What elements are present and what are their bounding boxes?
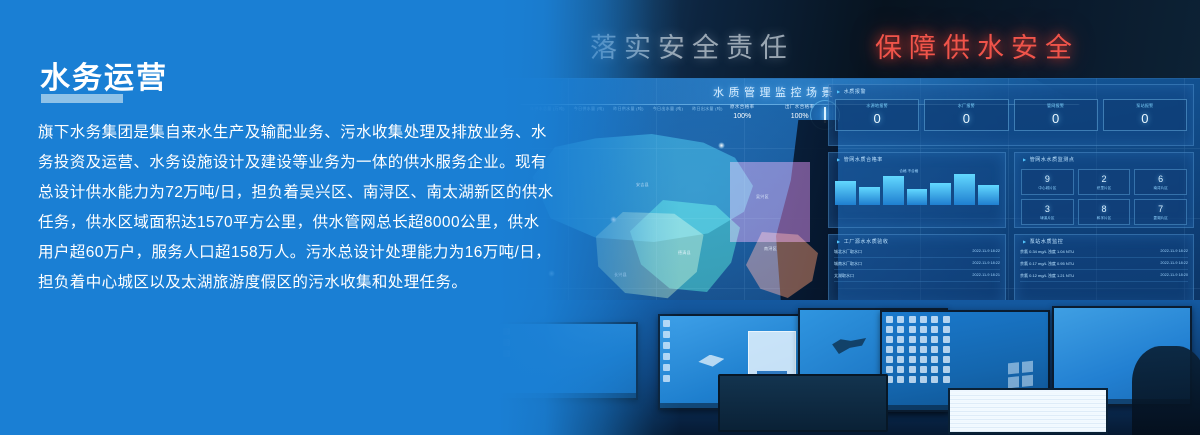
led-banner-strip: 落实安全责任 保障供水安全 — [480, 0, 1200, 88]
panel-monitoring-points[interactable]: 管网水水质监测点 9 中心城片区 2 织里片区 6 南浔片区 — [1014, 152, 1194, 228]
desktop-icon[interactable] — [931, 336, 938, 343]
desktop-icon[interactable] — [897, 356, 904, 363]
alarm-card[interactable]: 水厂报警 0 — [924, 99, 1008, 131]
alarm-card-label: 泵站报警 — [1104, 103, 1186, 109]
panel-heading: 管网水质合格率 — [837, 156, 883, 163]
control-room-photo: 落实安全责任 保障供水安全 水质管理监控场景 年供水总量 (万吨) 今日供水量 … — [480, 0, 1200, 435]
panel-heading: 管网水水质监测点 — [1023, 156, 1075, 163]
panel-heading: 水质报警 — [837, 88, 866, 95]
alarm-card-row: 水源地报警 0 水厂报警 0 管网报警 0 泵站报警 — [835, 99, 1187, 131]
row-site: 太湖取水口 — [834, 273, 854, 279]
desktop-icon[interactable] — [943, 346, 950, 353]
monitor-point-cell[interactable]: 9 中心城片区 — [1021, 169, 1074, 195]
desktop-icon[interactable] — [920, 326, 927, 333]
alarm-card-value: 0 — [836, 111, 918, 126]
paragraph-line: 务投资及运营、水务设施设计及建设等业务为一体的供水服务企业。现有 — [38, 148, 550, 178]
kpi-label: 今日供水量 (吨) — [574, 106, 604, 112]
alarm-card-value: 0 — [1104, 111, 1186, 126]
cell-label: 埭溪片区 — [1022, 216, 1073, 221]
desk-spreadsheet-screen — [948, 388, 1108, 434]
led-slogan-left: 落实安全责任 — [590, 26, 794, 65]
data-row[interactable]: 太湖取水口 2022-11-9 18:21 — [834, 273, 1000, 282]
led-slogan-right: 保障供水安全 — [875, 26, 1079, 65]
desktop-icon — [663, 353, 670, 360]
desktop-icon[interactable] — [920, 316, 927, 323]
underwater-wallpaper-diver — [832, 338, 866, 354]
row-metrics: 余氯 0.17 mg/L 浊度 0.95 NTU — [1020, 261, 1074, 267]
row-metrics: 余氯 0.12 mg/L 浊度 1.21 NTU — [1020, 273, 1074, 279]
desktop-icon[interactable] — [897, 326, 904, 333]
map-region-label: 吴兴区 — [756, 194, 769, 200]
data-row[interactable]: 余氯 0.12 mg/L 浊度 1.21 NTU 2022-11-9 18:20 — [1020, 273, 1188, 282]
desktop-icon[interactable] — [943, 366, 950, 373]
desktop-icon — [663, 331, 670, 338]
row-time: 2022-11-9 18:22 — [972, 249, 1000, 253]
desktop-icon[interactable] — [920, 356, 927, 363]
region-map: 安吉县 德清县 长兴县 吴兴区 南浔区 — [518, 120, 818, 320]
description-paragraph: 旗下水务集团是集自来水生产及输配业务、污水收集处理及排放业务、水 务投资及运营、… — [38, 118, 550, 298]
row-time: 2022-11-9 18:22 — [1160, 261, 1188, 265]
map-region-wuxing — [730, 162, 810, 242]
panel-pump-station-quality[interactable]: 泵站水质监控 余氯 0.34 mg/L 浊度 1.04 NTU 2022-11-… — [1014, 234, 1194, 306]
row-site: 城北水厂取水口 — [834, 249, 862, 255]
alarm-card-label: 管网报警 — [1015, 103, 1097, 109]
person-silhouette — [1132, 346, 1200, 435]
chart-bar — [883, 176, 904, 205]
alarm-card[interactable]: 泵站报警 0 — [1103, 99, 1187, 131]
source-water-row-list: 城北水厂取水口 2022-11-9 18:22 城南水厂取水口 2022-11-… — [834, 249, 1000, 285]
desktop-icon — [663, 342, 670, 349]
alarm-card-label: 水厂报警 — [925, 103, 1007, 109]
data-row[interactable]: 城南水厂取水口 2022-11-9 18:22 — [834, 261, 1000, 270]
cell-value: 6 — [1135, 174, 1186, 184]
desktop-icon — [663, 375, 670, 382]
desktop-icon[interactable] — [897, 366, 904, 373]
text-content-block: 水务运营 旗下水务集团是集自来水生产及输配业务、污水收集处理及排放业务、水 务投… — [0, 0, 560, 435]
paragraph-line: 旗下水务集团是集自来水生产及输配业务、污水收集处理及排放业务、水 — [38, 118, 550, 148]
percent-label: 原水合格率 — [730, 104, 755, 110]
alarm-card[interactable]: 管网报警 0 — [1014, 99, 1098, 131]
cell-label: 和孚片区 — [1079, 216, 1130, 221]
desktop-icon[interactable] — [909, 346, 916, 353]
chart-bar — [907, 189, 928, 205]
desktop-icon[interactable] — [931, 316, 938, 323]
row-time: 2022-11-9 18:21 — [972, 273, 1000, 277]
desktop-icon[interactable] — [920, 376, 927, 383]
desktop-icon[interactable] — [897, 346, 904, 353]
desktop-icon-column — [663, 320, 670, 382]
cell-label: 南浔片区 — [1135, 186, 1186, 191]
desktop-icon[interactable] — [931, 376, 938, 383]
paragraph-line: 任务，供水区域面积达1570平方公里，供水管网总长超8000公里，供水 — [38, 208, 550, 238]
desktop-icon[interactable] — [886, 336, 893, 343]
title-underline-rule — [41, 94, 123, 103]
desktop-icon[interactable] — [920, 336, 927, 343]
chart-bar — [978, 185, 999, 205]
desktop-icon[interactable] — [886, 366, 893, 373]
chart-bar — [859, 187, 880, 205]
desktop-icon — [663, 364, 670, 371]
desktop-icon[interactable] — [897, 336, 904, 343]
paragraph-line: 用户超60万户，服务人口超158万人。污水总设计处理能力为16万吨/日， — [38, 238, 550, 268]
desktop-icon[interactable] — [886, 326, 893, 333]
data-row[interactable]: 余氯 0.34 mg/L 浊度 1.04 NTU 2022-11-9 18:22 — [1020, 249, 1188, 258]
monitor-point-cell[interactable]: 8 和孚片区 — [1078, 199, 1131, 225]
desktop-icon[interactable] — [943, 376, 950, 383]
desktop-icon[interactable] — [909, 336, 916, 343]
spreadsheet-rows — [950, 392, 1106, 432]
desktop-icon[interactable] — [909, 366, 916, 373]
kpi-label: 昨日出水量 (吨) — [692, 106, 722, 112]
row-time: 2022-11-9 18:22 — [1160, 249, 1188, 253]
data-row[interactable]: 余氯 0.17 mg/L 浊度 0.95 NTU 2022-11-9 18:22 — [1020, 261, 1188, 270]
alarm-card[interactable]: 水源地报警 0 — [835, 99, 919, 131]
alarm-card-value: 0 — [925, 111, 1007, 126]
desktop-icon[interactable] — [931, 356, 938, 363]
map-region-label: 德清县 — [678, 250, 691, 256]
alarm-card-value: 0 — [1015, 111, 1097, 126]
alarm-card-label: 水源地报警 — [836, 103, 918, 109]
cell-label: 菱湖片区 — [1135, 216, 1186, 221]
monitor-point-cell[interactable]: 2 织里片区 — [1078, 169, 1131, 195]
percent-stat: 原水合格率 100% — [730, 104, 755, 120]
cell-label: 中心城片区 — [1022, 186, 1073, 191]
desktop-icon[interactable] — [943, 316, 950, 323]
desktop-icon[interactable] — [909, 316, 916, 323]
row-time: 2022-11-9 18:22 — [972, 261, 1000, 265]
pump-station-row-list: 余氯 0.34 mg/L 浊度 1.04 NTU 2022-11-9 18:22… — [1020, 249, 1188, 285]
chart-bar — [835, 181, 856, 205]
desktop-icon[interactable] — [931, 366, 938, 373]
desktop-icon[interactable] — [909, 356, 916, 363]
map-region-label: 南浔区 — [764, 246, 777, 252]
panel-heading: 工厂源水水质验收 — [837, 238, 889, 245]
chart-bar — [930, 183, 951, 205]
desktop-icon[interactable] — [886, 316, 893, 323]
desktop-icon[interactable] — [943, 356, 950, 363]
desktop-icon[interactable] — [931, 326, 938, 333]
chart-bar — [954, 174, 975, 205]
kpi-label: 今日出水量 (吨) — [653, 106, 683, 112]
cell-value: 8 — [1079, 204, 1130, 214]
panel-heading: 泵站水质监控 — [1023, 238, 1063, 245]
row-site: 城南水厂取水口 — [834, 261, 862, 267]
pass-rate-bar-chart — [835, 171, 999, 205]
map-marker-dot — [718, 142, 725, 149]
cell-value: 7 — [1135, 204, 1186, 214]
cell-value: 2 — [1079, 174, 1130, 184]
desktop-icon[interactable] — [909, 376, 916, 383]
app-logo-icon — [698, 355, 724, 367]
monitor-point-cell[interactable]: 3 埭溪片区 — [1021, 199, 1074, 225]
desktop-icon[interactable] — [909, 326, 916, 333]
row-time: 2022-11-9 18:20 — [1160, 273, 1188, 277]
desktop-icon[interactable] — [920, 346, 927, 353]
panel-water-quality-alarms[interactable]: 水质报警 水源地报警 0 水厂报警 0 管网报警 0 — [828, 84, 1194, 146]
desktop-icon — [663, 320, 670, 327]
map-region-label: 长兴县 — [614, 272, 627, 278]
desktop-icon[interactable] — [897, 376, 904, 383]
water-operations-banner: 落实安全责任 保障供水安全 水质管理监控场景 年供水总量 (万吨) 今日供水量 … — [0, 0, 1200, 435]
desktop-icon[interactable] — [920, 366, 927, 373]
cell-label: 织里片区 — [1079, 186, 1130, 191]
map-marker-dot — [610, 216, 617, 223]
page-title: 水务运营 — [40, 53, 168, 97]
panel-source-water-acceptance[interactable]: 工厂源水水质验收 城北水厂取水口 2022-11-9 18:22 城南水厂取水口… — [828, 234, 1006, 306]
panel-pipeline-pass-rate[interactable]: 管网水质合格率 合格 不合格 — [828, 152, 1006, 228]
desktop-icon[interactable] — [886, 346, 893, 353]
monitoring-point-grid: 9 中心城片区 2 织里片区 6 南浔片区 3 — [1021, 169, 1187, 225]
monitor-point-cell[interactable]: 6 南浔片区 — [1134, 169, 1187, 195]
map-region-label: 安吉县 — [636, 182, 649, 188]
monitor-point-cell[interactable]: 7 菱湖片区 — [1134, 199, 1187, 225]
desktop-icon[interactable] — [886, 356, 893, 363]
desktop-icon-grid — [886, 316, 950, 383]
paragraph-line: 总设计供水能力为72万吨/日，担负着吴兴区、南浔区、南太湖新区的供水 — [38, 178, 550, 208]
windows-logo-icon — [1008, 361, 1034, 390]
desktop-icon[interactable] — [897, 316, 904, 323]
row-metrics: 余氯 0.34 mg/L 浊度 1.04 NTU — [1020, 249, 1074, 255]
cell-value: 9 — [1022, 174, 1073, 184]
desktop-icon[interactable] — [943, 326, 950, 333]
desktop-icon[interactable] — [943, 336, 950, 343]
desktop-icon[interactable] — [931, 346, 938, 353]
cell-value: 3 — [1022, 204, 1073, 214]
data-row[interactable]: 城北水厂取水口 2022-11-9 18:22 — [834, 249, 1000, 258]
water-quality-dashboard: 水质管理监控场景 年供水总量 (万吨) 今日供水量 (吨) 昨日供水量 (吨) … — [480, 78, 1200, 328]
percent-value: 100% — [730, 113, 755, 120]
dashboard-side-panels: 水质报警 水源地报警 0 水厂报警 0 管网报警 0 — [828, 84, 1194, 324]
desk-laptop — [718, 374, 888, 432]
kpi-label: 昨日供水量 (吨) — [613, 106, 643, 112]
paragraph-line: 担负着中心城区以及太湖旅游度假区的污水收集和处理任务。 — [38, 268, 550, 298]
operator-desk-area — [480, 300, 1200, 435]
